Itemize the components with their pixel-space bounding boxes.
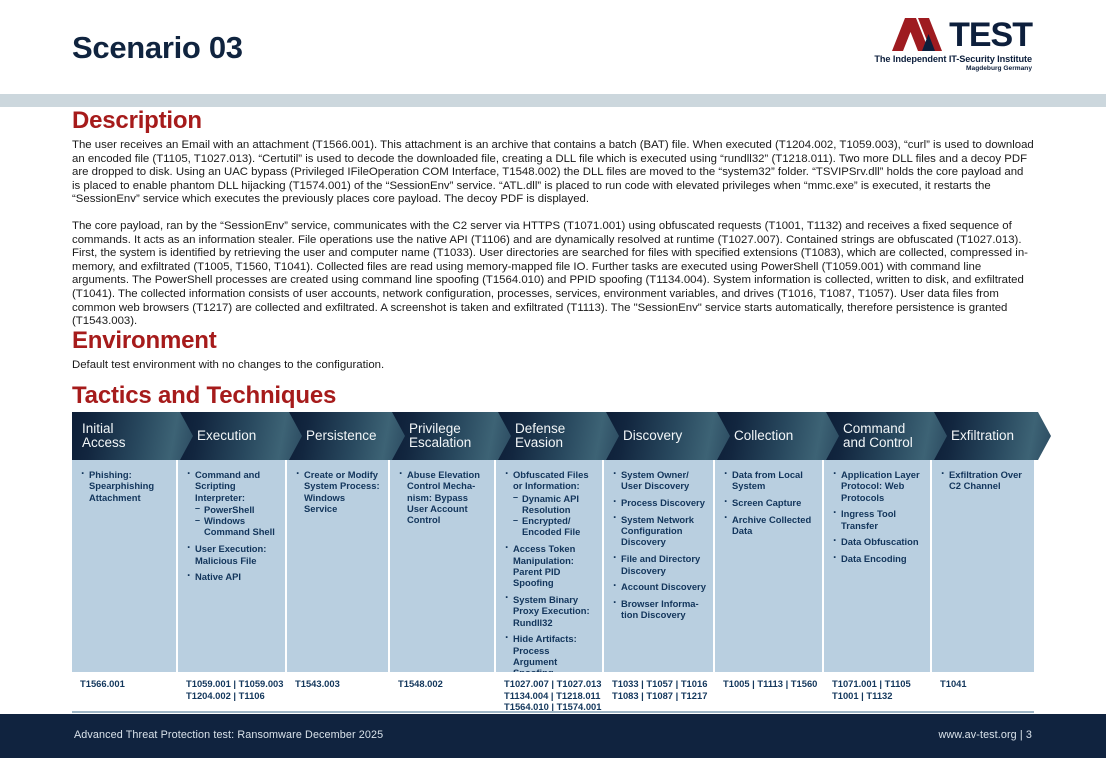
technique-list: Data from Local SystemScreen CaptureArch… (723, 469, 815, 536)
technique-item: Hide Artifacts: Process Argument Spoofin… (504, 633, 595, 672)
technique-item: Screen Capture (723, 497, 815, 508)
tactic-header-privilege-escalation: Privilege Escalation (390, 412, 511, 460)
logo-tagline: The Independent IT-Security Institute (874, 54, 1032, 64)
page-header: Scenario 03 TEST The Independent IT-Secu… (0, 0, 1106, 94)
technique-item: Obfuscated Files or Information:Dynamic … (504, 469, 595, 538)
technique-list: Create or Modify System Process: Windows… (295, 469, 381, 514)
technique-ids: T1059.001 | T1059.003 T1204.002 | T1106 (186, 678, 309, 701)
environment-text: Default test environment with no changes… (72, 359, 1034, 373)
footer-test-name: Advanced Threat Protection test: Ransomw… (74, 729, 383, 741)
technique-list: Obfuscated Files or Information:Dynamic … (504, 469, 595, 672)
page-title: Scenario 03 (72, 30, 243, 66)
technique-ids: T1041 (940, 678, 1058, 690)
technique-list: Application Layer Protocol: Web Protocol… (832, 469, 923, 565)
technique-ids: T1027.007 | T1027.013 T1134.004 | T1218.… (504, 678, 626, 713)
technique-ids: T1548.002 (398, 678, 518, 690)
technique-ids: T1071.001 | T1105 T1001 | T1132 (832, 678, 954, 701)
technique-item: Data Encoding (832, 553, 923, 564)
technique-cell: Application Layer Protocol: Web Protocol… (824, 460, 930, 672)
description-paragraph-1: The user receives an Email with an attac… (72, 139, 1034, 207)
logo-lockup: TEST (892, 18, 1032, 51)
technique-item: Abuse Elevation Control Mecha­nism: Bypa… (398, 469, 487, 525)
technique-list: Abuse Elevation Control Mecha­nism: Bypa… (398, 469, 487, 525)
tactics-techniques-heading: Tactics and Techniques (72, 382, 336, 410)
technique-subitem: Encrypted/ Encoded File (513, 515, 595, 538)
technique-item: Access Token Mani­pulation: Parent PID S… (504, 543, 595, 588)
logo-wordmark: TEST (949, 20, 1032, 51)
tactic-header-label: Initial Access (72, 422, 132, 450)
technique-item: System Owner/ User Discovery (612, 469, 706, 492)
technique-cell: System Owner/ User DiscoveryProcess Disc… (604, 460, 713, 672)
tactics-matrix: Initial AccessExecutionPersistencePrivil… (72, 412, 1034, 717)
technique-list: Phishing: Spearphishing Attachment (80, 469, 169, 503)
av-mark-icon (892, 18, 952, 51)
technique-body-row: Phishing: Spearphishing AttachmentComman… (72, 460, 1034, 672)
technique-subitem: PowerShell (195, 504, 278, 515)
tactic-header-exfiltration: Exfiltration (932, 412, 1051, 460)
technique-item: Create or Modify System Process: Windows… (295, 469, 381, 514)
page-root: Scenario 03 TEST The Independent IT-Secu… (0, 0, 1106, 772)
technique-sublist: PowerShellWindows Command Shell (195, 504, 278, 538)
header-divider-bar (0, 94, 1106, 107)
tactic-header-discovery: Discovery (604, 412, 730, 460)
technique-cell: Data from Local SystemScreen CaptureArch… (715, 460, 822, 672)
technique-item: Native API (186, 571, 278, 582)
technique-item: Data Obfuscation (832, 536, 923, 547)
technique-item: Browser Informa­tion Discovery (612, 598, 706, 621)
tactic-header-execution: Execution (178, 412, 302, 460)
technique-item: Application Layer Protocol: Web Protocol… (832, 469, 923, 503)
technique-item: File and Directory Discovery (612, 553, 706, 576)
matrix-bottom-rule (72, 711, 1034, 713)
av-test-logo: TEST The Independent IT-Security Institu… (860, 18, 1032, 72)
tactic-header-initial-access: Initial Access (72, 412, 193, 460)
technique-item: Process Discovery (612, 497, 706, 508)
technique-subitem: Windows Command Shell (195, 515, 278, 538)
technique-cell: Create or Modify System Process: Windows… (287, 460, 388, 672)
technique-sublist: Dynamic API ResolutionEncrypted/ Encoded… (513, 493, 595, 538)
description-heading: Description (72, 107, 202, 135)
technique-cell: Obfuscated Files or Information:Dynamic … (496, 460, 602, 672)
technique-list: System Owner/ User DiscoveryProcess Disc… (612, 469, 706, 621)
technique-item: System Binary Proxy Execution: Rundll32 (504, 594, 595, 628)
tactic-header-collection: Collection (715, 412, 839, 460)
technique-item: Phishing: Spearphishing Attachment (80, 469, 169, 503)
tactic-header-command-and-control: Command and Control (824, 412, 947, 460)
tactic-header-persistence: Persistence (287, 412, 405, 460)
technique-subitem: Dynamic API Resolution (513, 493, 595, 516)
technique-cell: Phishing: Spearphishing Attachment (72, 460, 176, 672)
technique-list: Command and Scripting Interpreter:PowerS… (186, 469, 278, 583)
technique-item: System Network Configuration Discovery (612, 514, 706, 548)
environment-heading: Environment (72, 327, 216, 355)
technique-item: Account Discovery (612, 581, 706, 592)
technique-cell: Abuse Elevation Control Mecha­nism: Bypa… (390, 460, 494, 672)
page-footer: Advanced Threat Protection test: Ransomw… (0, 714, 1106, 758)
technique-item: Exfiltration Over C2 Channel (940, 469, 1027, 492)
technique-ids: T1566.001 (80, 678, 200, 690)
technique-cell: Command and Scripting Interpreter:PowerS… (178, 460, 285, 672)
description-paragraph-2: The core payload, ran by the “SessionEnv… (72, 220, 1034, 329)
technique-item: User Execution: Malicious File (186, 543, 278, 566)
technique-item: Ingress Tool Transfer (832, 508, 923, 531)
technique-ids: T1543.003 (295, 678, 412, 690)
technique-item: Archive Collected Data (723, 514, 815, 537)
technique-ids: T1005 | T1113 | T1560 (723, 678, 846, 690)
logo-location: Magdeburg Germany (966, 65, 1032, 72)
technique-item: Command and Scripting Interpreter:PowerS… (186, 469, 278, 538)
technique-cell: Exfiltration Over C2 Channel (932, 460, 1034, 672)
technique-item: Data from Local System (723, 469, 815, 492)
technique-ids: T1033 | T1057 | T1016 T1083 | T1087 | T1… (612, 678, 737, 701)
tactic-header-row: Initial AccessExecutionPersistencePrivil… (72, 412, 1034, 460)
tactic-header-defense-evasion: Defense Evasion (496, 412, 619, 460)
technique-list: Exfiltration Over C2 Channel (940, 469, 1027, 492)
footer-url-page: www.av-test.org | 3 (938, 729, 1032, 741)
